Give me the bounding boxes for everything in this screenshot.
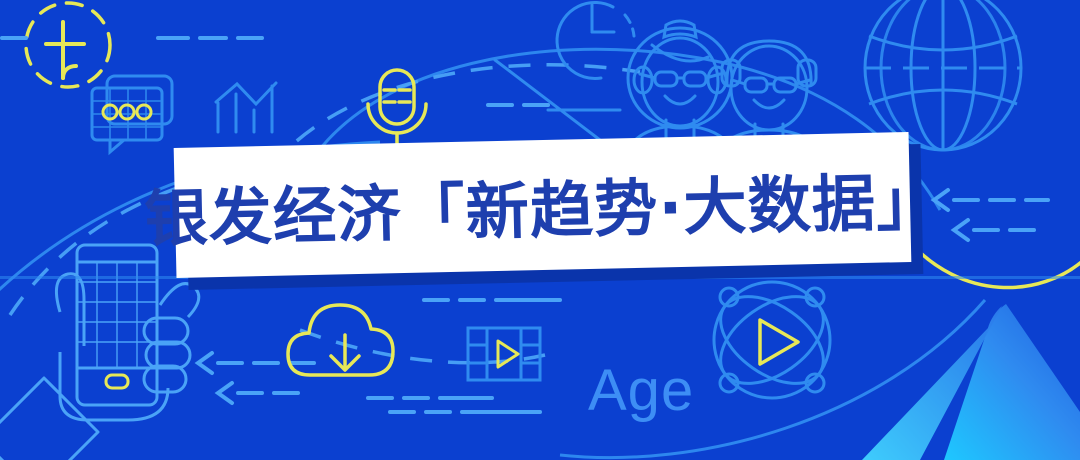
dashed-arrow-left-icon — [198, 353, 314, 403]
headline-banner-card: 银发经济「新趋势·大数据」 — [174, 132, 912, 278]
dashed-arrow-left-icon — [934, 190, 1048, 240]
silver-economy-banner: Age 银发经济「新趋势·大数据」 — [0, 0, 1080, 460]
headline-title: 银发经济「新趋势·大数据」 — [144, 151, 942, 258]
age-wordmark: Age — [588, 362, 694, 420]
chat-bubble-icon — [92, 76, 172, 152]
network-play-icon — [693, 261, 851, 419]
globe-icon — [865, 0, 1021, 150]
cursor-target-icon — [26, 3, 110, 87]
cloud-download-icon — [288, 305, 393, 375]
headline-banner: 银发经济「新趋势·大数据」 — [175, 140, 920, 280]
bar-chart-icon — [216, 83, 276, 132]
phone-in-hand-icon — [0, 245, 199, 460]
clock-icon — [557, 2, 634, 78]
video-film-icon — [468, 328, 540, 380]
corner-chevron-mark — [862, 304, 1080, 460]
dash-accent-group — [2, 38, 548, 105]
microphone-icon — [368, 70, 426, 147]
